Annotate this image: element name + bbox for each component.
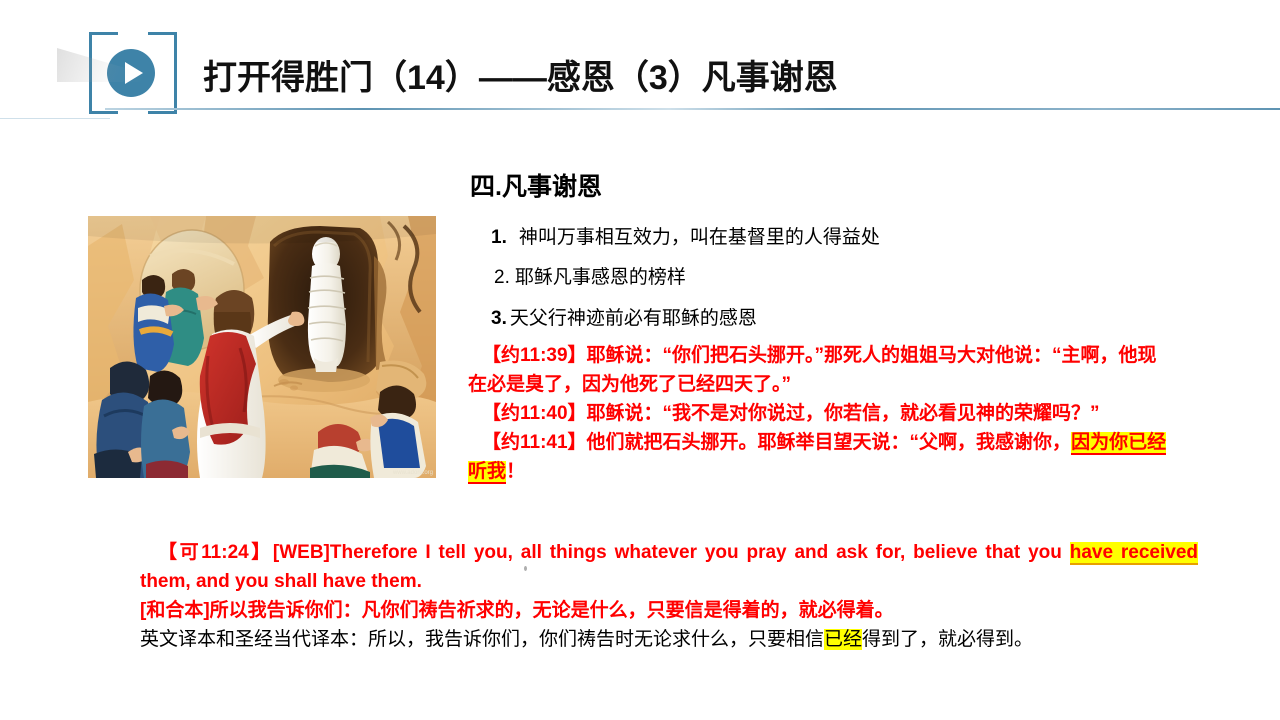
contemporary-label: 英文译本和圣经当代译本： xyxy=(140,629,368,650)
scripture-text: 耶稣说：“我不是对你说过，你若信，就必看见神的荣耀吗？” xyxy=(587,403,1100,424)
lazarus-illustration-artwork xyxy=(88,216,436,478)
scripture-text-tail: ！ xyxy=(506,461,525,482)
web-reference: 【可11:24】 xyxy=(158,542,273,563)
frame-edge-right xyxy=(174,50,177,98)
page-title: 打开得胜门（14）——感恩（3）凡事谢恩 xyxy=(203,50,838,99)
contemporary-text-before: 所以，我告诉你们，你们祷告时无论求什么，只要相信 xyxy=(368,629,824,650)
hehe-text: 所以我告诉你们：凡你们祷告祈求的，无论是什么，只要信是得着的，就必得着。 xyxy=(210,600,894,621)
hehe-translation: [和合本]所以我告诉你们：凡你们祷告祈求的，无论是什么，只要信是得着的，就必得着… xyxy=(140,596,1198,625)
header-divider xyxy=(105,108,1280,110)
web-highlight: have received xyxy=(1070,542,1198,565)
play-icon xyxy=(107,49,155,97)
mouse-cursor xyxy=(524,566,527,571)
contemporary-translation: 英文译本和圣经当代译本：所以，我告诉你们，你们祷告时无论求什么，只要相信已经得到… xyxy=(140,625,1170,654)
web-text-before: Therefore I tell you, all things whateve… xyxy=(330,542,1070,563)
illustration-credit: www.adoru.org xyxy=(393,470,433,476)
web-translation: 【可11:24】[WEB]Therefore I tell you, all t… xyxy=(140,538,1198,596)
lazarus-illustration: www.adoru.org xyxy=(88,216,436,478)
frame-corner-top-right xyxy=(148,32,177,59)
list-item-label: 天父行神迹前必有耶稣的感恩 xyxy=(510,308,757,329)
scripture-reference: 【约11:41】 xyxy=(482,432,587,453)
list-item: 2.耶稣凡事感恩的榜样 xyxy=(470,262,1170,289)
scripture-reference: 【约11:40】 xyxy=(482,403,587,424)
translation-block: 【可11:24】[WEB]Therefore I tell you, all t… xyxy=(140,538,1198,654)
list-item-number: 1. xyxy=(491,227,507,248)
hehe-tag: [和合本] xyxy=(140,600,210,621)
list-item: 1.神叫万事相互效力，叫在基督里的人得益处 xyxy=(470,222,1170,249)
contemporary-highlight: 已经 xyxy=(824,629,862,650)
scripture-verse-1: 【约11:39】耶稣说：“你们把石头挪开。”那死人的姐姐马大对他说：“主啊，他现… xyxy=(468,341,1168,399)
scripture-text: 他们就把石头挪开。耶稣举目望天说：“父啊，我感谢你， xyxy=(587,432,1072,453)
play-triangle-icon xyxy=(125,62,143,84)
list-item-label: 耶稣凡事感恩的榜样 xyxy=(515,267,686,288)
scripture-verse-2: 【约11:40】耶稣说：“我不是对你说过，你若信，就必看见神的荣耀吗？” xyxy=(468,399,1168,428)
scripture-reference: 【约11:39】 xyxy=(482,345,587,366)
list-item-number: 2. xyxy=(494,267,510,288)
header-divider-soft xyxy=(0,118,110,119)
list-item-label: 神叫万事相互效力，叫在基督里的人得益处 xyxy=(519,227,880,248)
points-list: 1.神叫万事相互效力，叫在基督里的人得益处 2.耶稣凡事感恩的榜样 3.天父行神… xyxy=(470,222,1170,330)
scripture-verse-3: 【约11:41】他们就把石头挪开。耶稣举目望天说：“父啊，我感谢你，因为你已经听… xyxy=(468,428,1168,486)
list-item-number: 3. xyxy=(491,308,507,329)
play-button-icon-frame xyxy=(89,32,177,114)
contemporary-text-after: 得到了，就必得到。 xyxy=(862,629,1033,650)
list-item: 3.天父行神迹前必有耶稣的感恩 xyxy=(470,303,1170,330)
slide-header: 打开得胜门（14）——感恩（3）凡事谢恩 xyxy=(0,0,1280,130)
frame-edge-left xyxy=(89,50,92,98)
web-version-tag: [WEB] xyxy=(273,542,330,563)
section-heading: 四.凡事谢恩 xyxy=(470,167,602,203)
scripture-block: 【约11:39】耶稣说：“你们把石头挪开。”那死人的姐姐马大对他说：“主啊，他现… xyxy=(468,341,1168,486)
web-text-after: them, and you shall have them. xyxy=(140,571,422,592)
